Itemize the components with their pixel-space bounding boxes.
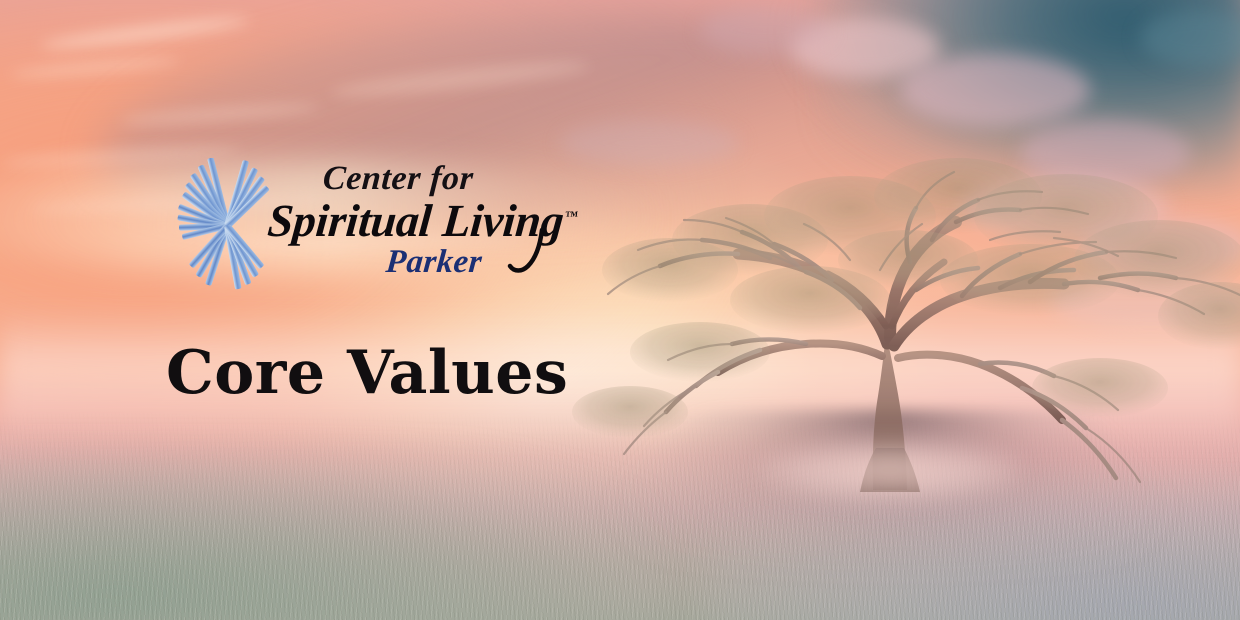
- logo-line-center-for: Center for: [322, 160, 475, 198]
- trademark-symbol: ™: [564, 208, 578, 223]
- cloud-puff: [700, 6, 830, 54]
- cloud-puff: [900, 54, 1090, 126]
- logo-wordmark: Center for Spiritual Living™ Parker: [268, 158, 538, 298]
- trunk-base-mist: [760, 438, 1020, 502]
- logo-swash-flourish: [496, 228, 548, 276]
- csl-parker-logo: Center for Spiritual Living™ Parker: [168, 158, 528, 308]
- logo-line-parker: Parker: [384, 244, 483, 281]
- core-values-banner: Center for Spiritual Living™ Parker Core…: [0, 0, 1240, 620]
- page-title: Core Values: [166, 343, 568, 403]
